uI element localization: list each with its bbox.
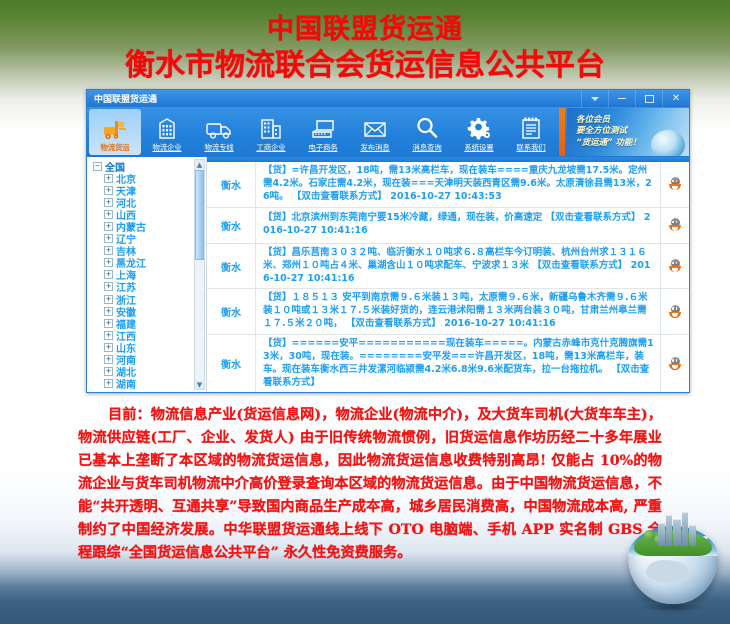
toolbar-label: 物流企业: [152, 142, 181, 153]
collapse-icon[interactable]: −: [93, 162, 102, 171]
truck-icon: [205, 114, 233, 140]
building-icon: [682, 512, 688, 546]
tree-node-13[interactable]: +福建: [91, 317, 206, 329]
window-titlebar[interactable]: 中国联盟货运通 ✕: [87, 90, 689, 107]
row-city: 衡水: [207, 335, 256, 392]
toolbar-label: 系统设置: [464, 142, 493, 153]
maximize-icon[interactable]: [635, 90, 662, 107]
tree-node-9[interactable]: +上海: [91, 269, 206, 281]
tree-node-15[interactable]: +山东: [91, 341, 206, 353]
row-city: 衡水: [207, 289, 256, 334]
row-contact-cell[interactable]: [660, 208, 689, 243]
toolbar-label: 物流专线: [204, 142, 233, 153]
toolbar-item-industry-commerce[interactable]: 工商企业: [245, 107, 297, 157]
dropdown-icon[interactable]: [581, 90, 608, 107]
page-title: 中国联盟货运通 衡水市物流联合会货运信息公共平台: [0, 14, 730, 84]
tree-node-10[interactable]: +江苏: [91, 281, 206, 293]
list-item[interactable]: 衡水【货】昌乐莒南３０３２吨、临沂衡水１０吨求６.８高栏车今订明装、杭州台州求１…: [207, 244, 689, 290]
list-item[interactable]: 衡水【货】=许昌开发区，18吨，需13米高栏车，现在装车====重庆九龙坡需17…: [207, 162, 689, 208]
toolbar-item-contact-us[interactable]: 联系我们: [505, 107, 557, 157]
row-city: 衡水: [207, 244, 256, 289]
tree-node-1[interactable]: +北京: [91, 172, 206, 184]
row-message[interactable]: 【货】１８５１３ 安平到南京需９.６米装１３吨，太原需９.６米，新疆乌鲁木齐需９…: [256, 289, 660, 334]
expand-icon[interactable]: +: [104, 319, 113, 328]
description-paragraph: 目前：物流信息产业(货运信息网)，物流企业(物流中介)，及大货车司机(大货车车主…: [78, 404, 662, 565]
tree-node-8[interactable]: +黑龙江: [91, 257, 206, 269]
expand-icon[interactable]: +: [104, 307, 113, 316]
scroll-up-icon[interactable]: ▲: [195, 160, 204, 169]
toolbar-label: 联系我们: [516, 142, 545, 153]
qq-icon[interactable]: [669, 218, 681, 232]
tree-node-4[interactable]: +山西: [91, 208, 206, 220]
expand-icon[interactable]: +: [104, 198, 113, 207]
tree-node-root[interactable]: − 全国: [91, 160, 206, 172]
tree-node-18[interactable]: +湖南: [91, 378, 206, 390]
minimize-icon[interactable]: [608, 90, 635, 107]
gear-icon: [466, 114, 492, 140]
app-body: − 全国 +北京+天津+河北+山西+内蒙古+辽宁+吉林+黑龙江+上海+江苏+浙江…: [87, 157, 689, 392]
row-message[interactable]: 【货】北京滨州到东莞南宁要15米冷藏，绿通，现在装，价高速定 【双击查看联系方式…: [256, 209, 660, 241]
row-contact-cell[interactable]: [660, 289, 689, 334]
toolbar-label: 发布消息: [360, 142, 389, 153]
toolbar-item-ecommerce[interactable]: 电子商务: [297, 107, 349, 157]
sidebar-scrollbar[interactable]: ▲ ▼: [194, 159, 205, 390]
building-icon: [658, 523, 665, 546]
tree-node-2[interactable]: +天津: [91, 184, 206, 196]
page-title-line1: 中国联盟货运通: [0, 14, 730, 45]
expand-icon[interactable]: +: [104, 295, 113, 304]
tree-node-7[interactable]: +吉林: [91, 245, 206, 257]
city-skyline: [658, 512, 702, 546]
tree-node-6[interactable]: +辽宁: [91, 233, 206, 245]
toolbar-item-message-query[interactable]: 消息查询: [401, 107, 453, 157]
document-icon: [519, 114, 543, 140]
row-city: 衡水: [207, 162, 256, 207]
toolbar-item-publish-message[interactable]: 发布消息: [349, 107, 401, 157]
promo-line-1: 各位会员: [576, 115, 689, 126]
row-message[interactable]: 【货】======安平===========现在装车=====。内蒙古赤峰市克什…: [256, 335, 660, 392]
toolbar-label: 消息查询: [412, 142, 441, 153]
expand-icon[interactable]: +: [104, 258, 113, 267]
toolbar-item-logistics-company[interactable]: 物流企业: [141, 107, 193, 157]
row-contact-cell[interactable]: [660, 162, 689, 207]
app-window: 中国联盟货运通 ✕ 物流货运: [86, 89, 690, 393]
forklift-icon: [102, 114, 128, 140]
expand-icon[interactable]: +: [104, 367, 113, 376]
window-controls: ✕: [581, 90, 689, 107]
toolbar-label: 物流货运: [100, 142, 129, 153]
row-city: 衡水: [207, 208, 256, 243]
scroll-down-icon[interactable]: ▼: [195, 380, 204, 389]
toolbar-label: 电子商务: [308, 142, 337, 153]
globe-graphic: [624, 508, 722, 618]
qq-icon[interactable]: [669, 259, 681, 273]
computer-icon: [310, 114, 336, 140]
toolbar-divider: [559, 108, 565, 156]
expand-icon[interactable]: +: [104, 282, 113, 291]
expand-icon[interactable]: +: [104, 343, 113, 352]
expand-icon[interactable]: +: [104, 331, 113, 340]
qq-icon[interactable]: [669, 357, 681, 371]
tree-node-5[interactable]: +内蒙古: [91, 220, 206, 232]
expand-icon[interactable]: +: [104, 246, 113, 255]
freight-list-panel: 衡水【货】=许昌开发区，18吨，需13米高栏车，现在装车====重庆九龙坡需17…: [207, 157, 689, 392]
tree-node-17[interactable]: +湖北: [91, 366, 206, 378]
globe-landmass: [646, 560, 688, 582]
close-icon[interactable]: ✕: [662, 90, 689, 107]
toolbar-label: 工商企业: [256, 142, 285, 153]
expand-icon[interactable]: +: [104, 355, 113, 364]
toolbar-item-freight[interactable]: 物流货运: [89, 109, 141, 155]
expand-icon[interactable]: +: [104, 186, 113, 195]
tree-node-label: 湖南: [116, 376, 136, 391]
row-contact-cell[interactable]: [660, 335, 689, 392]
expand-icon[interactable]: +: [104, 270, 113, 279]
qq-icon[interactable]: [669, 177, 681, 191]
list-item[interactable]: 衡水【货】１８５１３ 安平到南京需９.６米装１３吨，太原需９.６米，新疆乌鲁木齐…: [207, 289, 689, 335]
expand-icon[interactable]: +: [104, 222, 113, 231]
tree-node-14[interactable]: +江西: [91, 329, 206, 341]
row-message[interactable]: 【货】=许昌开发区，18吨，需13米高栏车，现在装车====重庆九龙坡需17.5…: [256, 162, 660, 207]
main-toolbar: 物流货运 物流企业: [87, 107, 689, 157]
building-icon: [673, 519, 681, 546]
promo-banner[interactable]: 各位会员 要全方位测试 “货运通” 功能！: [567, 108, 689, 156]
envelope-icon: [362, 114, 388, 140]
expand-icon[interactable]: +: [104, 379, 113, 388]
page-title-line2: 衡水市物流联合会货运信息公共平台: [0, 49, 730, 84]
toolbar-item-system-settings[interactable]: 系统设置: [453, 107, 505, 157]
tree-node-3[interactable]: +河北: [91, 196, 206, 208]
window-title: 中国联盟货运通: [94, 92, 157, 105]
row-contact-cell[interactable]: [660, 244, 689, 289]
tree-node-11[interactable]: +浙江: [91, 293, 206, 305]
list-item[interactable]: 衡水【货】北京滨州到东莞南宁要15米冷藏，绿通，现在装，价高速定 【双击查看联系…: [207, 208, 689, 244]
scrollbar-thumb[interactable]: [195, 170, 204, 260]
list-item[interactable]: 衡水【货】======安平===========现在装车=====。内蒙古赤峰市…: [207, 335, 689, 392]
tree-node-12[interactable]: +安徽: [91, 305, 206, 317]
expand-icon[interactable]: +: [104, 210, 113, 219]
toolbar-item-dedicated-line[interactable]: 物流专线: [193, 107, 245, 157]
expand-icon[interactable]: +: [104, 234, 113, 243]
building-icon: [666, 515, 672, 546]
globe-shadow: [638, 603, 708, 612]
region-tree-sidebar[interactable]: − 全国 +北京+天津+河北+山西+内蒙古+辽宁+吉林+黑龙江+上海+江苏+浙江…: [87, 157, 207, 392]
promo-line-2: 要全方位测试: [576, 126, 689, 137]
promo-line-3: “货运通” 功能！: [576, 138, 689, 149]
building-icon: [689, 525, 696, 546]
office-icon: [258, 114, 284, 140]
qq-icon[interactable]: [669, 305, 681, 319]
search-icon: [415, 114, 439, 140]
freight-list[interactable]: 衡水【货】=许昌开发区，18吨，需13米高栏车，现在装车====重庆九龙坡需17…: [207, 162, 689, 392]
expand-icon[interactable]: +: [104, 174, 113, 183]
building-icon: [155, 114, 179, 140]
row-message[interactable]: 【货】昌乐莒南３０３２吨、临沂衡水１０吨求６.８高栏车今订明装、杭州台州求１３１…: [256, 244, 660, 289]
tree-node-16[interactable]: +河南: [91, 354, 206, 366]
